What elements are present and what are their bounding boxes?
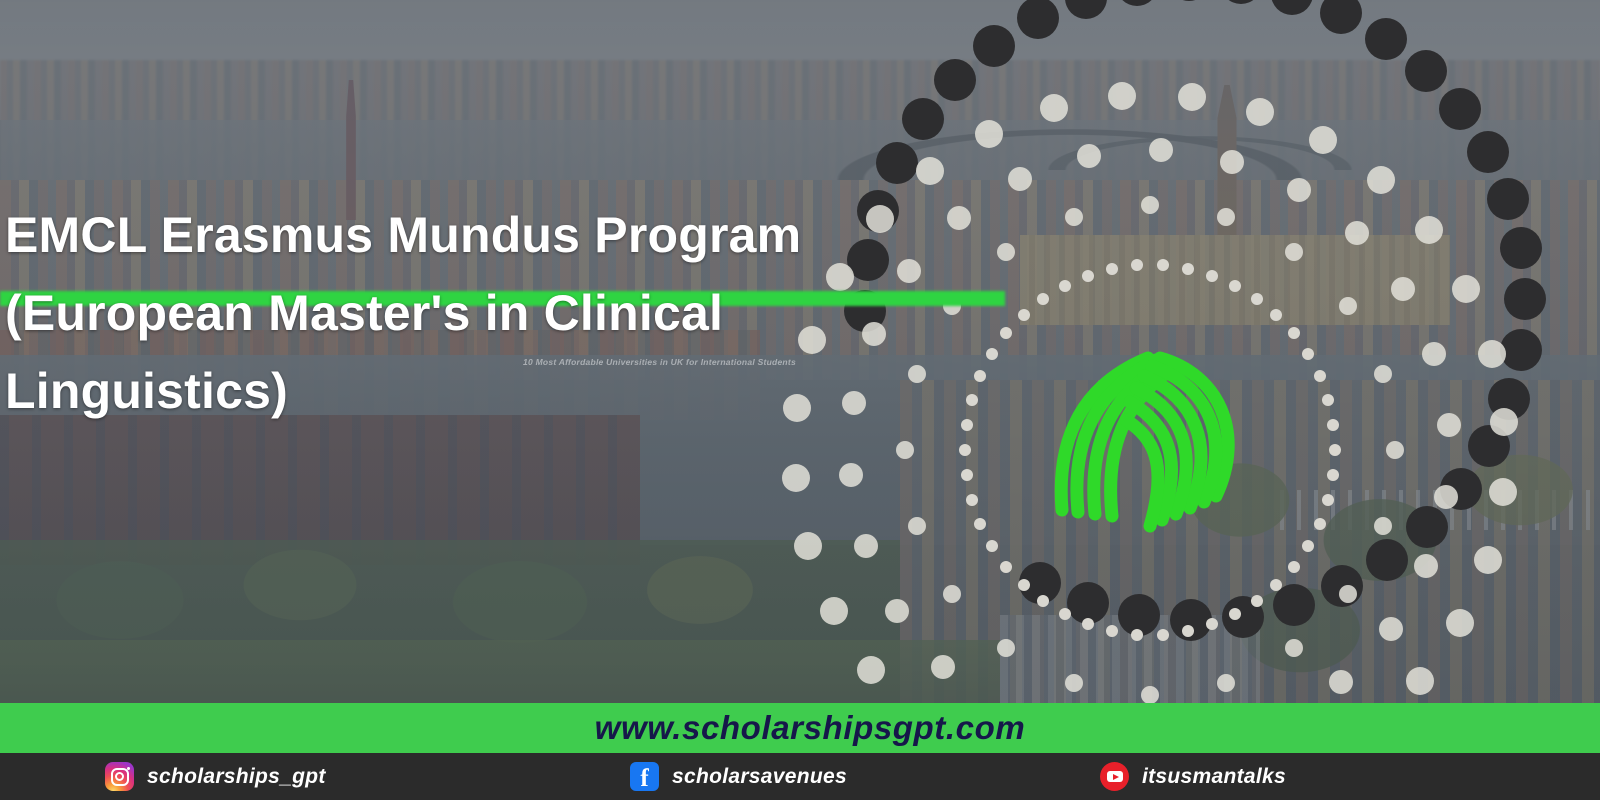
page-title: EMCL Erasmus Mundus Program (European Ma…: [5, 196, 1015, 430]
social-item-facebook[interactable]: f scholarsavenues: [630, 762, 847, 791]
instagram-icon: [105, 762, 134, 791]
headline-line-2: (European Master's in Clinical: [5, 274, 1015, 352]
social-item-instagram[interactable]: scholarships_gpt: [105, 762, 326, 791]
headline-line-1: EMCL Erasmus Mundus Program: [5, 196, 1015, 274]
website-url[interactable]: www.scholarshipsgpt.com: [595, 709, 1026, 747]
brand-logo-icon: [1040, 340, 1260, 560]
facebook-icon: f: [630, 762, 659, 791]
social-footer: scholarships_gpt f scholarsavenues itsus…: [0, 753, 1600, 800]
youtube-icon: [1100, 762, 1129, 791]
headline-line-3: Linguistics): [5, 352, 1015, 430]
social-item-youtube[interactable]: itsusmantalks: [1100, 762, 1286, 791]
facebook-handle: scholarsavenues: [672, 765, 847, 789]
promotional-banner: EMCL Erasmus Mundus Program (European Ma…: [0, 0, 1600, 800]
instagram-handle: scholarships_gpt: [147, 765, 326, 789]
youtube-handle: itsusmantalks: [1142, 765, 1286, 789]
website-url-bar: www.scholarshipsgpt.com: [0, 703, 1600, 753]
